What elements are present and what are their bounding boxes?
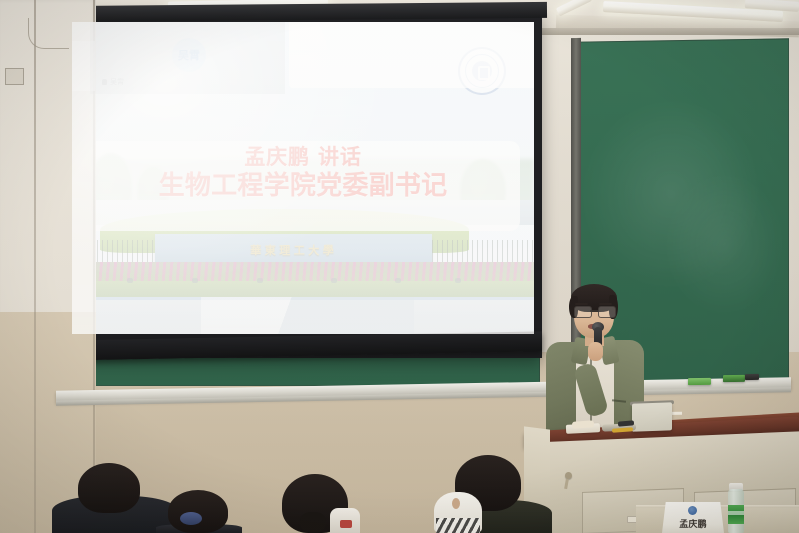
audience-member-ear [452, 498, 460, 509]
slide-title-line1: 孟庆鹏 讲话 [72, 144, 534, 170]
lectern-side-panel [524, 426, 550, 507]
beanie-pattern [436, 518, 480, 533]
speaker-hand [588, 342, 603, 361]
speaker-eyebrow [575, 303, 588, 305]
slide-spotlight [192, 278, 198, 283]
participant-avatar: 吴霄 [172, 38, 206, 72]
microphone-icon [102, 79, 107, 85]
glasses-icon [574, 306, 615, 316]
slide-title-line2: 生物工程学院党委副书记 [72, 171, 534, 202]
glasses-lens [574, 306, 592, 318]
audience-member-ponytail [300, 512, 326, 533]
slide-overlay-card-right [289, 22, 534, 88]
nameplate-name: 孟庆鹏 [662, 517, 724, 530]
glasses-bridge [590, 310, 598, 312]
slide-spotlight [257, 278, 263, 283]
presentation-slide: 華東理工大學 孟庆鹏 讲话 生物工程学院党委副书记 [72, 22, 534, 334]
slide-hedge [72, 281, 534, 297]
video-participant-tile[interactable]: 吴霄 吴霄 [90, 22, 284, 94]
board-eraser [688, 378, 711, 385]
audience-member-collar-detail [340, 520, 352, 528]
slide-campus-sign: 華東理工大學 [155, 234, 432, 265]
participant-name-label: 吴霄 [102, 77, 124, 87]
projection-screen-surface: 華東理工大學 孟庆鹏 讲话 生物工程学院党委副书记 [72, 22, 534, 334]
slide-title-block: 孟庆鹏 讲话 生物工程学院党委副书记 [72, 144, 534, 202]
audience-member-head [168, 490, 228, 533]
slide-spotlight [455, 278, 461, 283]
slide-spotlight [331, 278, 337, 283]
speaker-eyebrow [599, 303, 612, 305]
laptop[interactable] [632, 402, 672, 431]
slide-plaza-path [201, 297, 414, 334]
audience-member-head [78, 463, 140, 513]
classroom-photo: 華東理工大學 孟庆鹏 讲话 生物工程学院党委副书记 [0, 0, 799, 533]
hair-scrunchie [180, 512, 202, 525]
nameplate-card: 孟庆鹏 [662, 502, 724, 533]
board-eraser [723, 375, 745, 382]
wall-cable [28, 18, 69, 49]
wall-outlet-plate [5, 68, 24, 85]
slide-spotlight [127, 278, 133, 283]
board-eraser [745, 374, 759, 380]
glasses-lens [598, 306, 616, 318]
campus-sign-text: 華東理工大學 [155, 234, 432, 265]
nameplate-logo-icon [688, 506, 697, 515]
water-bottle-label-strip [728, 511, 744, 515]
slide-spotlight [395, 278, 401, 283]
participant-name-text: 吴霄 [110, 77, 124, 87]
wall-seam [34, 0, 36, 533]
